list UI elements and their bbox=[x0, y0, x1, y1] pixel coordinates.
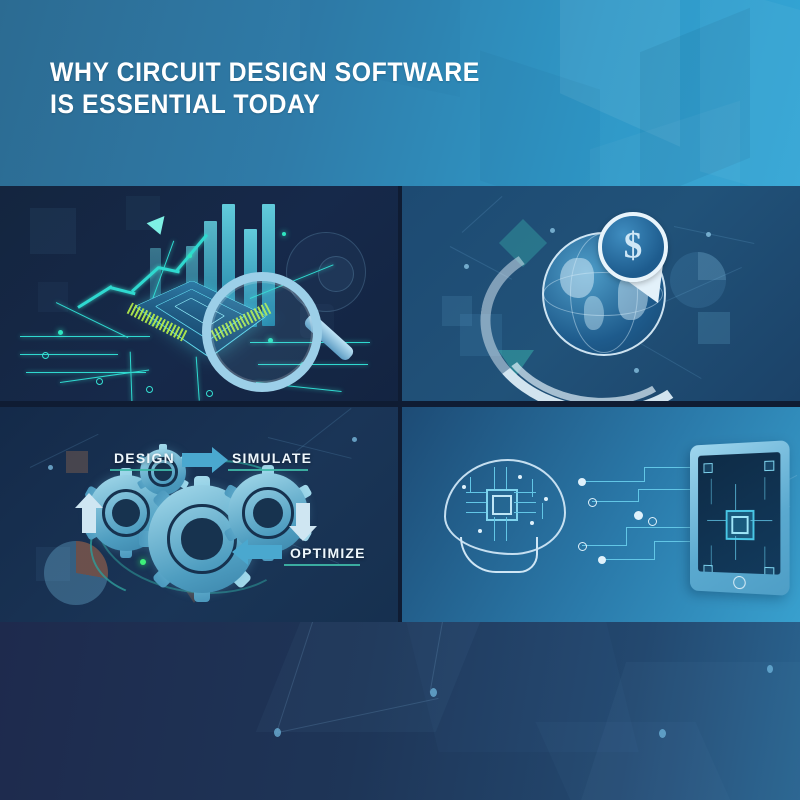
footer-node bbox=[274, 728, 281, 737]
arrow-right-icon bbox=[182, 453, 212, 467]
panel-globe-dollar-growth[interactable]: $ bbox=[402, 186, 800, 401]
workflow-step-design-underline bbox=[110, 469, 172, 471]
decor-node bbox=[706, 232, 711, 237]
screen-corner-marker bbox=[704, 565, 713, 575]
footer-node bbox=[430, 688, 437, 697]
decor-line bbox=[296, 408, 352, 452]
page-title-line-1: WHY CIRCUIT DESIGN SOFTWARE bbox=[50, 56, 528, 88]
screen-corner-marker bbox=[704, 463, 713, 473]
circuit-node-icon bbox=[146, 386, 153, 393]
decor-line bbox=[30, 434, 99, 468]
screen-corner-marker bbox=[764, 461, 774, 472]
circuit-node-icon bbox=[206, 390, 213, 397]
footer-band bbox=[0, 622, 800, 800]
footer-node bbox=[767, 665, 773, 673]
arrow-up-icon bbox=[82, 507, 96, 533]
decor-line bbox=[462, 196, 503, 233]
page-title: WHY CIRCUIT DESIGN SOFTWARE IS ESSENTIAL… bbox=[50, 56, 528, 120]
decor-node bbox=[48, 465, 53, 470]
workflow-step-optimize-underline bbox=[284, 564, 360, 566]
decor-square bbox=[30, 208, 76, 254]
workflow-step-simulate-underline bbox=[228, 469, 308, 471]
glow-dot bbox=[282, 232, 286, 236]
footer-node bbox=[659, 729, 666, 738]
magnifier-icon bbox=[202, 272, 322, 392]
tablet-screen bbox=[698, 452, 780, 575]
decor-node bbox=[550, 228, 555, 233]
workflow-step-optimize-label: OPTIMIZE bbox=[290, 545, 366, 561]
glow-dot bbox=[188, 254, 192, 258]
workflow-step-simulate-label: SIMULATE bbox=[232, 450, 312, 466]
microchip-icon bbox=[726, 510, 755, 540]
page-title-line-2: IS ESSENTIAL TODAY bbox=[50, 88, 528, 120]
workflow-step-design-label: DESIGN bbox=[114, 450, 175, 466]
dollar-symbol: $ bbox=[602, 225, 664, 268]
decor-circle bbox=[318, 256, 354, 292]
panel-grid: $ bbox=[0, 186, 800, 622]
decor-line bbox=[674, 226, 754, 244]
glow-dot bbox=[58, 330, 63, 335]
infographic-canvas: WHY CIRCUIT DESIGN SOFTWARE IS ESSENTIAL… bbox=[0, 0, 800, 800]
circuit-node-icon bbox=[42, 352, 49, 359]
decor-node bbox=[352, 437, 357, 442]
arrow-left-icon bbox=[248, 545, 282, 559]
panel-gears-workflow[interactable]: DESIGN SIMULATE OPTIMIZE bbox=[0, 407, 398, 622]
circuit-brain-icon bbox=[444, 459, 570, 569]
circuit-node-icon bbox=[96, 378, 103, 385]
header-banner: WHY CIRCUIT DESIGN SOFTWARE IS ESSENTIAL… bbox=[0, 0, 800, 186]
decor-node bbox=[464, 264, 469, 269]
microchip-icon bbox=[486, 489, 518, 521]
decor-square bbox=[66, 451, 88, 473]
panel-brain-tablet[interactable] bbox=[402, 407, 800, 622]
panel-circuit-chip-magnifier[interactable] bbox=[0, 186, 398, 401]
circuit-trace-icon bbox=[20, 354, 118, 355]
circuit-trace-icon bbox=[572, 467, 692, 567]
tablet-home-button[interactable] bbox=[733, 576, 745, 590]
screen-corner-marker bbox=[764, 567, 774, 575]
arrow-down-icon bbox=[296, 503, 310, 527]
dollar-coin-icon: $ bbox=[598, 212, 668, 282]
tablet-icon[interactable] bbox=[690, 440, 790, 596]
